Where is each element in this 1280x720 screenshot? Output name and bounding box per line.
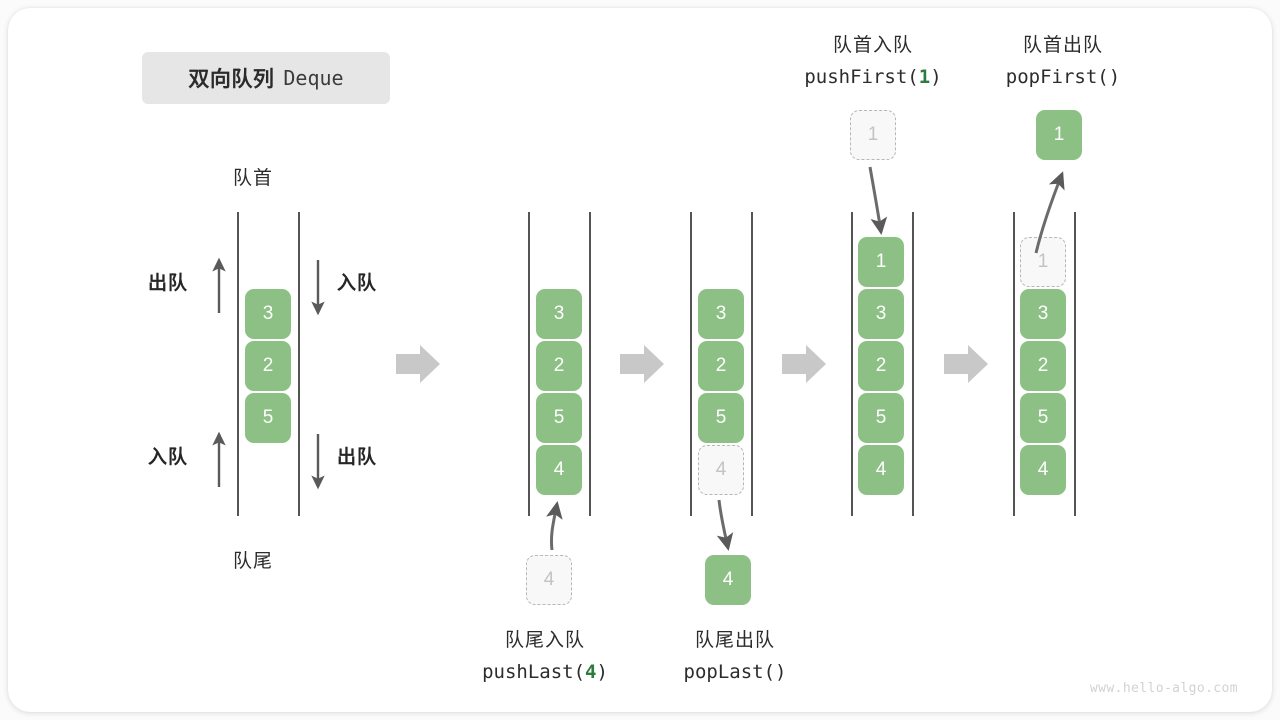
panel-5-item-2: 2: [1020, 341, 1066, 391]
title-chinese: 双向队列: [188, 63, 274, 93]
panel-3-detached-item: 4: [705, 555, 751, 605]
panel-4-code-suffix: ): [930, 66, 941, 88]
panel-1-item-1: 2: [245, 341, 291, 391]
panel-5-detached-item: 1: [1036, 110, 1082, 160]
panel-4-code-arg: 1: [919, 66, 930, 88]
panel-4-rail-right: [912, 212, 914, 516]
panel-1-tail-label: 队尾: [233, 546, 273, 573]
panel-4-caption-chinese: 队首入队: [793, 30, 953, 57]
panel-3-rail-right: [751, 212, 753, 516]
panel-1-label-enqueue-head: 入队: [337, 268, 377, 295]
panel-5-item-3: 5: [1020, 393, 1066, 443]
panel-5-rail-right: [1074, 212, 1076, 516]
panel-2-item-0: 3: [536, 289, 582, 339]
panel-1-head-label: 队首: [233, 163, 273, 190]
panel-3-item-3-ghost: 4: [698, 445, 744, 495]
panel-4-rail-left: [851, 212, 853, 516]
diagram-canvas: 双向队列 Deque 队首 队尾 3 2 5 出队 入队 入队 出队 3 2 5…: [0, 0, 1280, 720]
panel-3-item-0: 3: [698, 289, 744, 339]
panel-4-item-1: 3: [858, 289, 904, 339]
panel-2-code-prefix: pushLast(: [482, 661, 585, 683]
title-english: Deque: [283, 66, 343, 90]
panel-5-item-1: 3: [1020, 289, 1066, 339]
panel-1-rail-left: [237, 212, 239, 516]
panel-1-item-2: 5: [245, 393, 291, 443]
panel-3-item-1: 2: [698, 341, 744, 391]
panel-1-label-dequeue-tail: 出队: [337, 442, 377, 469]
diagram-card: [8, 8, 1272, 712]
panel-5-caption-code: popFirst(): [973, 66, 1153, 88]
watermark: www.hello-algo.com: [1090, 681, 1238, 696]
panel-2-item-1: 2: [536, 341, 582, 391]
panel-5-item-0-ghost: 1: [1020, 237, 1066, 287]
panel-5-code-prefix: popFirst(: [1006, 66, 1109, 88]
panel-4-item-2: 2: [858, 341, 904, 391]
panel-3-code-suffix: ): [775, 661, 786, 683]
panel-2-code-arg: 4: [585, 661, 596, 683]
panel-1-item-0: 3: [245, 289, 291, 339]
panel-4-code-prefix: pushFirst(: [804, 66, 918, 88]
panel-5-item-4: 4: [1020, 445, 1066, 495]
panel-5-caption-chinese: 队首出队: [983, 30, 1143, 57]
panel-2-detached-item: 4: [526, 555, 572, 605]
panel-1-rail-right: [298, 212, 300, 516]
panel-2-code-suffix: ): [596, 661, 607, 683]
panel-1-label-dequeue-head: 出队: [148, 268, 188, 295]
panel-3-item-2: 5: [698, 393, 744, 443]
panel-2-item-2: 5: [536, 393, 582, 443]
panel-4-item-4: 4: [858, 445, 904, 495]
panel-3-caption-code: popLast(): [655, 661, 815, 683]
panel-2-rail-left: [528, 212, 530, 516]
panel-4-item-3: 5: [858, 393, 904, 443]
panel-3-caption-chinese: 队尾出队: [655, 625, 815, 652]
panel-2-caption-code: pushLast(4): [465, 661, 625, 683]
panel-2-item-3: 4: [536, 445, 582, 495]
panel-5-code-suffix: ): [1109, 66, 1120, 88]
panel-3-rail-left: [690, 212, 692, 516]
panel-4-item-0: 1: [858, 237, 904, 287]
panel-1-label-enqueue-tail: 入队: [148, 442, 188, 469]
panel-2-rail-right: [589, 212, 591, 516]
panel-3-code-prefix: popLast(: [684, 661, 776, 683]
title-badge: 双向队列 Deque: [142, 52, 390, 104]
panel-4-detached-item: 1: [850, 110, 896, 160]
panel-4-caption-code: pushFirst(1): [783, 66, 963, 88]
panel-2-caption-chinese: 队尾入队: [465, 625, 625, 652]
panel-5-rail-left: [1013, 212, 1015, 516]
